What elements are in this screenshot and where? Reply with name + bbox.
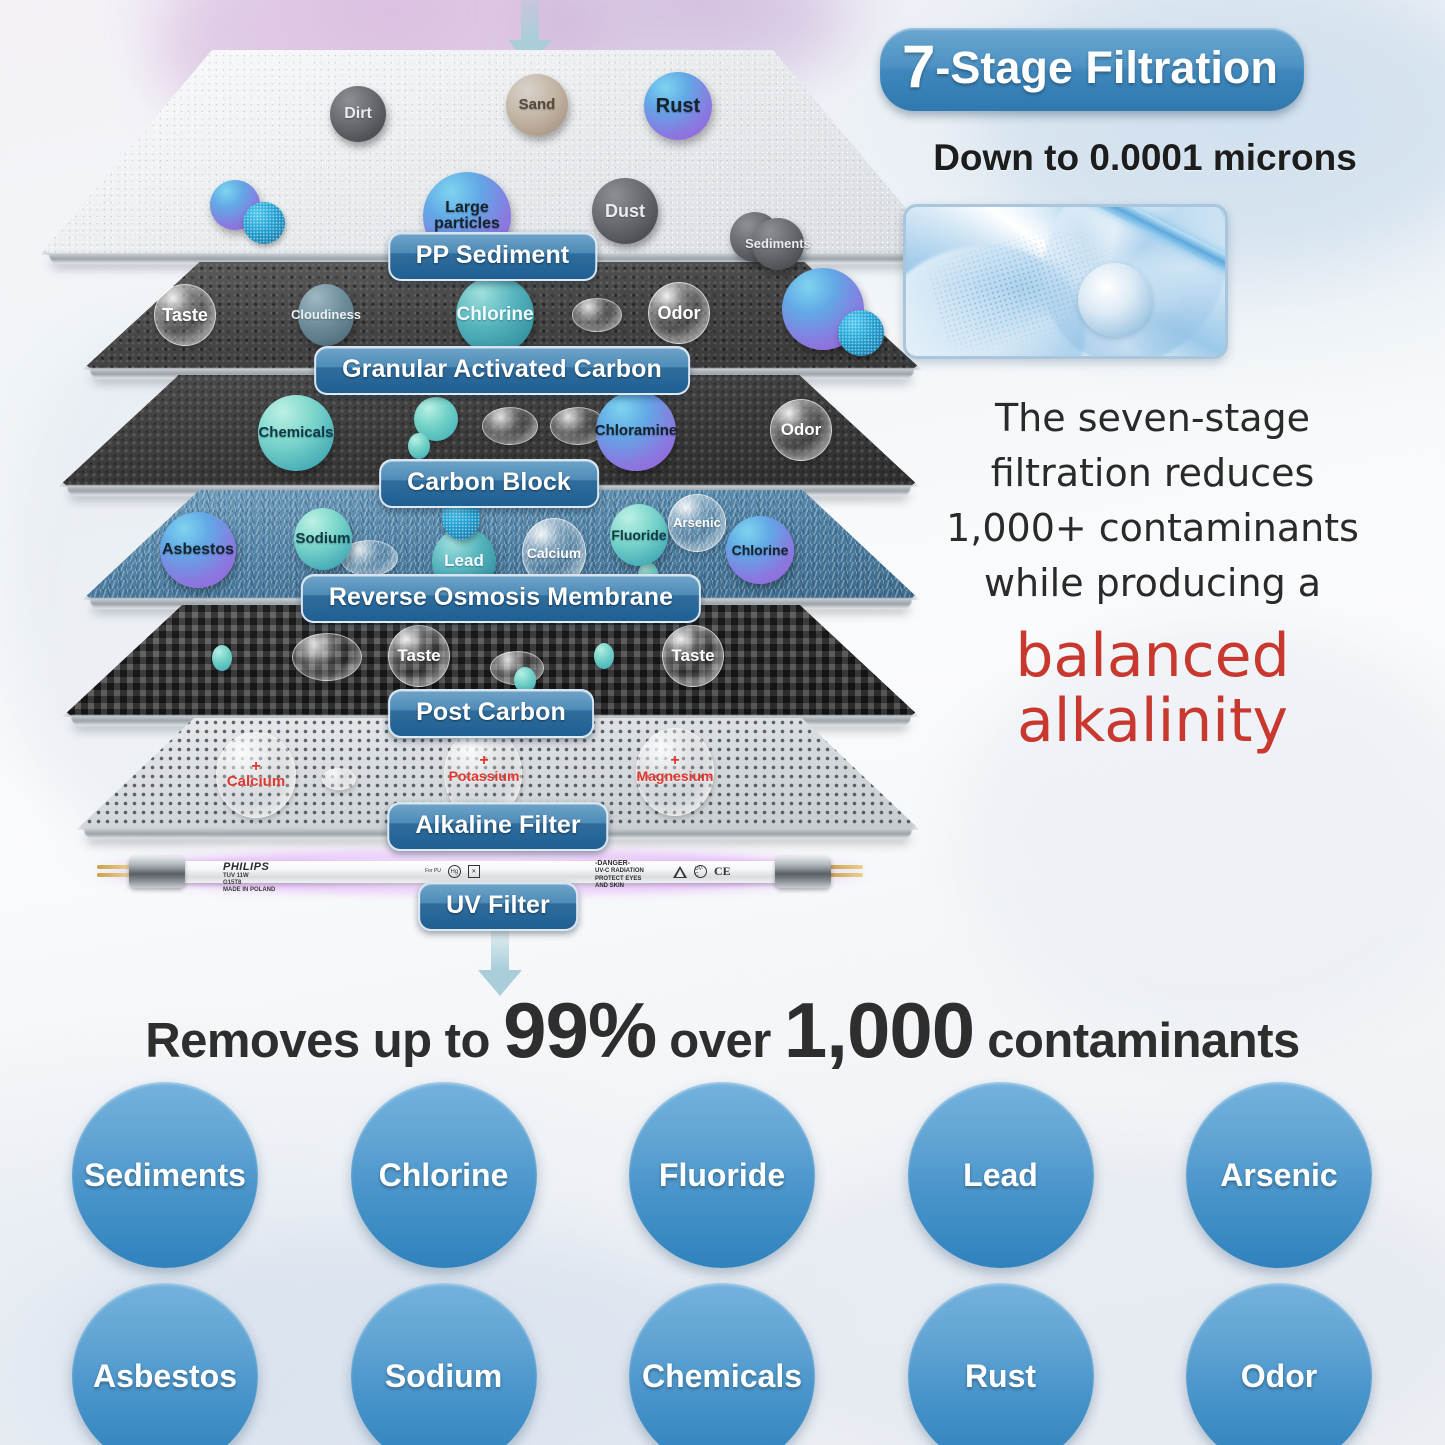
ion-plus-sign: + <box>670 754 679 768</box>
contaminant-circle-asbestos[interactable]: Asbestos <box>72 1283 258 1445</box>
stage-label-post-carbon: Post Carbon <box>388 689 594 738</box>
removes-text-3: contaminants <box>974 1014 1300 1068</box>
water-droplet <box>292 633 362 681</box>
ion-magnesium: + Magnesium <box>628 746 722 792</box>
description-paragraph: The seven-stage filtration reduces 1,000… <box>880 391 1425 757</box>
description-line-4: while producing a <box>984 561 1321 605</box>
hero-hub <box>1078 263 1152 337</box>
bubble-taste: Taste <box>388 625 450 687</box>
ion-label: Potassium <box>449 768 520 784</box>
bubble-sediments: Sediments <box>752 218 804 270</box>
removes-percent: 99% <box>503 986 656 1074</box>
ion-plus-sign: + <box>251 760 260 774</box>
bubble-chlorine: Chlorine <box>726 516 794 584</box>
bubble-asbestos: Asbestos <box>160 512 236 588</box>
badge-text: -Stage Filtration <box>935 42 1278 93</box>
contaminant-circle-arsenic[interactable]: Arsenic <box>1186 1082 1372 1268</box>
uv-pins-left <box>97 861 131 883</box>
uv-spec-line-3: MADE IN POLAND <box>223 887 413 894</box>
ion-calcium: + Calcium <box>214 752 298 798</box>
stage-label-pp-sediment: PP Sediment <box>388 232 597 281</box>
removes-count: 1,000 <box>784 986 974 1074</box>
ce-mark-icon: CE <box>714 864 731 879</box>
removes-headline: Removes up to 99% over 1,000 contaminant… <box>0 985 1445 1076</box>
description-line-1: The seven-stage <box>995 396 1310 440</box>
ion-label: Magnesium <box>636 768 713 784</box>
bubble-odor: Odor <box>770 399 832 461</box>
contaminant-circle-sodium[interactable]: Sodium <box>351 1283 537 1445</box>
micron-subheading: Down to 0.0001 microns <box>880 137 1410 179</box>
bubble-dirt: Dirt <box>330 86 386 142</box>
bubble-sand: Sand <box>506 74 568 136</box>
bubble-taste: Taste <box>662 625 724 687</box>
description-line-2: filtration reduces <box>991 451 1315 495</box>
bubble-taste: Taste <box>154 284 216 346</box>
bubble-chemicals: Chemicals <box>258 395 334 471</box>
ion-plus-sign: + <box>479 754 488 768</box>
uv-spec-line-1: TUV 11W <box>223 873 413 880</box>
mini-particle <box>408 433 430 459</box>
filter-stack-diagram: Dirt Sand Rust Large particles Dust Sedi… <box>0 0 960 950</box>
mini-particle <box>594 643 614 669</box>
no-disposal-icon: ✕ <box>468 865 480 878</box>
water-droplet <box>322 768 356 790</box>
stage-label-alkaline-filter: Alkaline Filter <box>387 802 608 851</box>
uv-forpu-label: For PU <box>425 869 441 874</box>
uv-danger-line-3: AND SKIN <box>595 883 745 890</box>
uv-compliance-marks: For PU Hg ✕ <box>425 865 480 878</box>
contaminant-circle-odor[interactable]: Odor <box>1186 1283 1372 1445</box>
bubble-odor: Odor <box>648 282 710 344</box>
bubble-cloudiness: Cloudiness <box>298 284 354 346</box>
bubble-arsenic: Arsenic <box>668 494 726 552</box>
contaminant-circle-fluoride[interactable]: Fluoride <box>629 1082 815 1268</box>
seven-stage-filtration-badge: 7-Stage Filtration <box>880 28 1304 111</box>
water-droplet <box>572 298 622 332</box>
bubble-particle-fuzz <box>243 202 285 244</box>
contaminant-circle-sediments[interactable]: Sediments <box>72 1082 258 1268</box>
contaminant-row-1: Sediments Chlorine Fluoride Lead Arsenic <box>72 1082 1372 1268</box>
uv-compliance-marks-right: UV-C CE <box>673 864 731 879</box>
ion-label: Calcium <box>227 773 285 790</box>
bubble-fluoride: Fluoride <box>610 504 668 566</box>
bubble-chlorine: Chlorine <box>456 276 534 354</box>
bubble-chloramine: Chloramine <box>596 391 676 471</box>
contaminant-circle-chemicals[interactable]: Chemicals <box>629 1283 815 1445</box>
contaminant-circle-rust[interactable]: Rust <box>908 1283 1094 1445</box>
bubble-sodium: Sodium <box>294 508 352 570</box>
bubble-particle-fuzz <box>838 310 884 356</box>
uv-spec-line-2: G15T8 <box>223 880 413 887</box>
uv-cap-left <box>129 856 185 888</box>
accent-line-2: alkalinity <box>880 686 1425 757</box>
uv-pins-right <box>829 861 863 883</box>
badge-number: 7 <box>902 33 935 100</box>
stage-label-reverse-osmosis-membrane: Reverse Osmosis Membrane <box>301 574 701 623</box>
accent-line-1: balanced <box>880 621 1425 692</box>
mercury-icon: Hg <box>448 865 461 878</box>
contaminant-circle-chlorine[interactable]: Chlorine <box>351 1082 537 1268</box>
bubble-line-2: particles <box>434 216 500 232</box>
water-droplet <box>482 407 538 445</box>
description-line-3: 1,000+ contaminants <box>946 506 1359 550</box>
warning-triangle-icon <box>673 866 687 878</box>
stage-label-carbon-block: Carbon Block <box>379 459 599 508</box>
removes-text-2: over <box>656 1014 784 1068</box>
uvc-icon: UV-C <box>694 865 707 878</box>
removes-text-1: Removes up to <box>145 1014 503 1068</box>
uv-brand-label: PHILIPS <box>223 862 413 873</box>
filter-layer-pp-sediment: Dirt Sand Rust Large particles Dust Sedi… <box>40 50 945 255</box>
bubble-dust: Dust <box>592 178 658 244</box>
uv-spec-label: TUV 11W G15T8 MADE IN POLAND <box>223 873 413 894</box>
stage-label-granular-activated-carbon: Granular Activated Carbon <box>314 346 690 395</box>
ion-potassium: + Potassium <box>440 746 528 792</box>
contaminant-circle-grid: Sediments Chlorine Fluoride Lead Arsenic… <box>72 1082 1372 1445</box>
right-info-column: 7-Stage Filtration Down to 0.0001 micron… <box>880 28 1425 757</box>
water-filtration-hero-image <box>903 204 1228 359</box>
uv-cap-right <box>775 856 831 888</box>
contaminant-circle-lead[interactable]: Lead <box>908 1082 1094 1268</box>
bubble-rust: Rust <box>644 72 712 140</box>
contaminant-row-2: Asbestos Sodium Chemicals Rust Odor <box>72 1283 1372 1445</box>
mini-particle <box>212 645 232 671</box>
stage-label-uv-filter: UV Filter <box>418 882 578 931</box>
bubble-line-1: Large <box>445 200 489 216</box>
